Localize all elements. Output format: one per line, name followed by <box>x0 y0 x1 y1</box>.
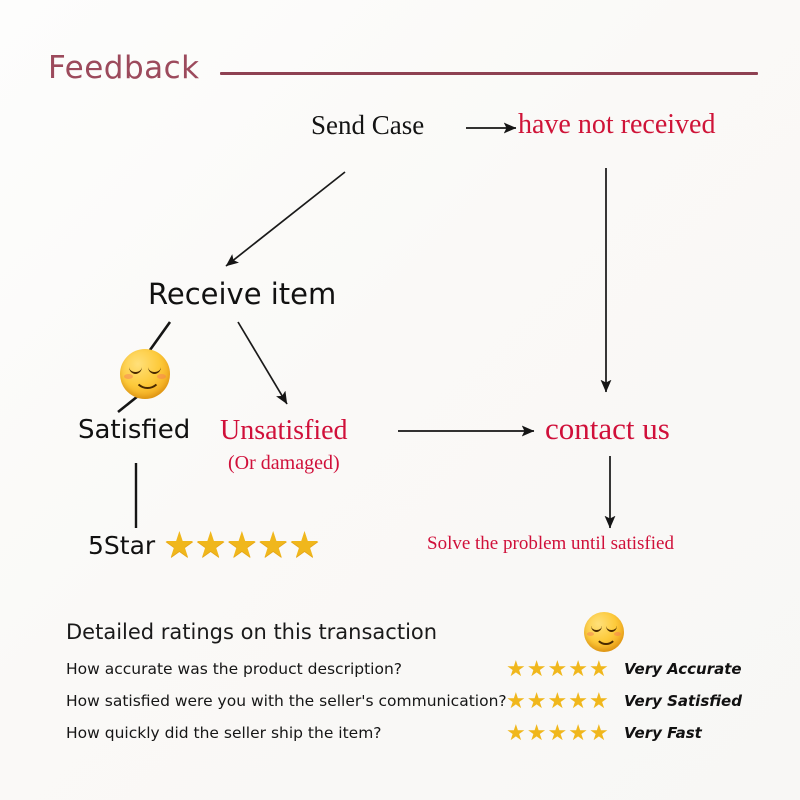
ratings-section-title: Detailed ratings on this transaction <box>66 620 437 644</box>
page-title: Feedback <box>48 50 200 86</box>
star-icon: ★ <box>527 658 547 680</box>
ratings-list: How accurate was the product description… <box>66 653 766 749</box>
rating-question: How accurate was the product description… <box>66 660 506 678</box>
rating-question: How quickly did the seller ship the item… <box>66 724 506 742</box>
arrow-receive-item-to-satisfied-lower <box>118 396 138 412</box>
star-icon: ★ <box>568 658 588 680</box>
star-icon: ★ <box>547 658 567 680</box>
star-icon: ★ <box>506 658 526 680</box>
rating-stars: ★★★★★ <box>506 722 624 744</box>
node-satisfied: Satisfied <box>78 415 190 445</box>
smiling-face-icon-solved <box>584 612 624 652</box>
node-send-case: Send Case <box>311 110 424 141</box>
arrow-receive-item-to-unsatisfied <box>238 322 287 404</box>
node-have-not-received: have not received <box>518 109 715 141</box>
star-icon: ★ <box>527 722 547 744</box>
arrow-receive-item-to-satisfied <box>150 322 170 350</box>
star-icon: ★ <box>527 690 547 712</box>
rating-label: Very Satisfied <box>624 692 742 710</box>
node-unsatisfied: Unsatisfied <box>220 415 348 447</box>
star-icon: ★ <box>288 527 320 563</box>
node-or-damaged: (Or damaged) <box>228 452 340 475</box>
star-icon: ★ <box>589 690 609 712</box>
star-icon: ★ <box>257 527 289 563</box>
emoji-blush-left-icon <box>124 374 133 379</box>
emoji-mouth-icon <box>595 631 617 645</box>
rating-row: How quickly did the seller ship the item… <box>66 717 766 749</box>
star-icon: ★ <box>568 690 588 712</box>
star-icon: ★ <box>547 722 567 744</box>
five-star-rating: 5Star ★★★★★ <box>88 527 320 563</box>
star-icon: ★ <box>194 527 226 563</box>
rating-question: How satisfied were you with the seller's… <box>66 692 506 710</box>
feedback-infographic: Feedback Send Case have not received Rec… <box>0 0 800 800</box>
star-icon: ★ <box>589 722 609 744</box>
node-solve-problem: Solve the problem until satisfied <box>427 533 674 555</box>
emoji-mouth-icon <box>134 373 161 389</box>
emoji-blush-left-icon <box>587 632 594 636</box>
five-star-glyphs: ★★★★★ <box>163 527 319 563</box>
arrow-send-case-to-receive-item <box>226 172 345 266</box>
rating-row: How accurate was the product description… <box>66 653 766 685</box>
smiling-face-icon <box>120 349 170 399</box>
star-icon: ★ <box>163 527 195 563</box>
node-contact-us: contact us <box>545 411 670 447</box>
star-icon: ★ <box>589 658 609 680</box>
rating-stars: ★★★★★ <box>506 658 624 680</box>
star-icon: ★ <box>547 690 567 712</box>
star-icon: ★ <box>226 527 258 563</box>
rating-label: Very Accurate <box>624 660 742 678</box>
rating-label: Very Fast <box>624 724 702 742</box>
node-receive-item: Receive item <box>148 277 336 311</box>
header-divider <box>220 72 758 75</box>
star-icon: ★ <box>568 722 588 744</box>
star-icon: ★ <box>506 722 526 744</box>
five-star-label: 5Star <box>88 531 155 560</box>
rating-stars: ★★★★★ <box>506 690 624 712</box>
star-icon: ★ <box>506 690 526 712</box>
rating-row: How satisfied were you with the seller's… <box>66 685 766 717</box>
